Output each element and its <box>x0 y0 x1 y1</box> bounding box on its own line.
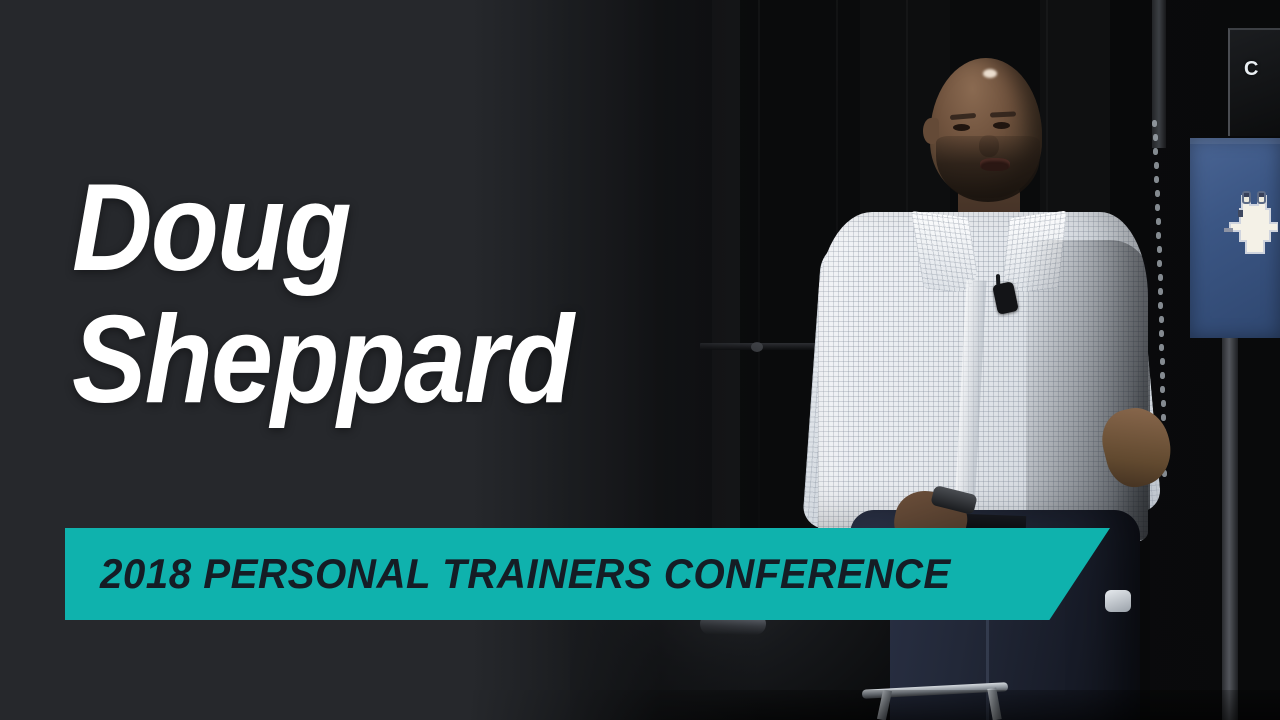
equipment-letter-label: C <box>1244 58 1259 81</box>
presenter-nose <box>979 135 999 157</box>
sign-pole <box>1222 338 1238 720</box>
presenter-eye <box>953 124 970 131</box>
stage-floor <box>0 690 1280 720</box>
speaker-first-name: Doug <box>72 168 702 288</box>
presenter-mouth <box>980 158 1010 171</box>
event-banner: 2018 PERSONAL TRAINERS CONFERENCE <box>65 528 1110 620</box>
shirt-shadow <box>1026 240 1150 540</box>
presenter-head-highlight <box>983 69 997 78</box>
speaker-name-block: Doug Sheppard <box>72 168 772 421</box>
event-banner-label: 2018 PERSONAL TRAINERS CONFERENCE <box>100 553 951 595</box>
stage-equipment-panel <box>1228 28 1280 136</box>
gym-machine-icon <box>1222 186 1278 268</box>
video-thumbnail: C <box>0 0 1280 720</box>
gym-equipment-knob <box>1105 590 1131 612</box>
presenter-eye <box>993 122 1010 129</box>
speaker-last-name: Sheppard <box>72 300 702 420</box>
